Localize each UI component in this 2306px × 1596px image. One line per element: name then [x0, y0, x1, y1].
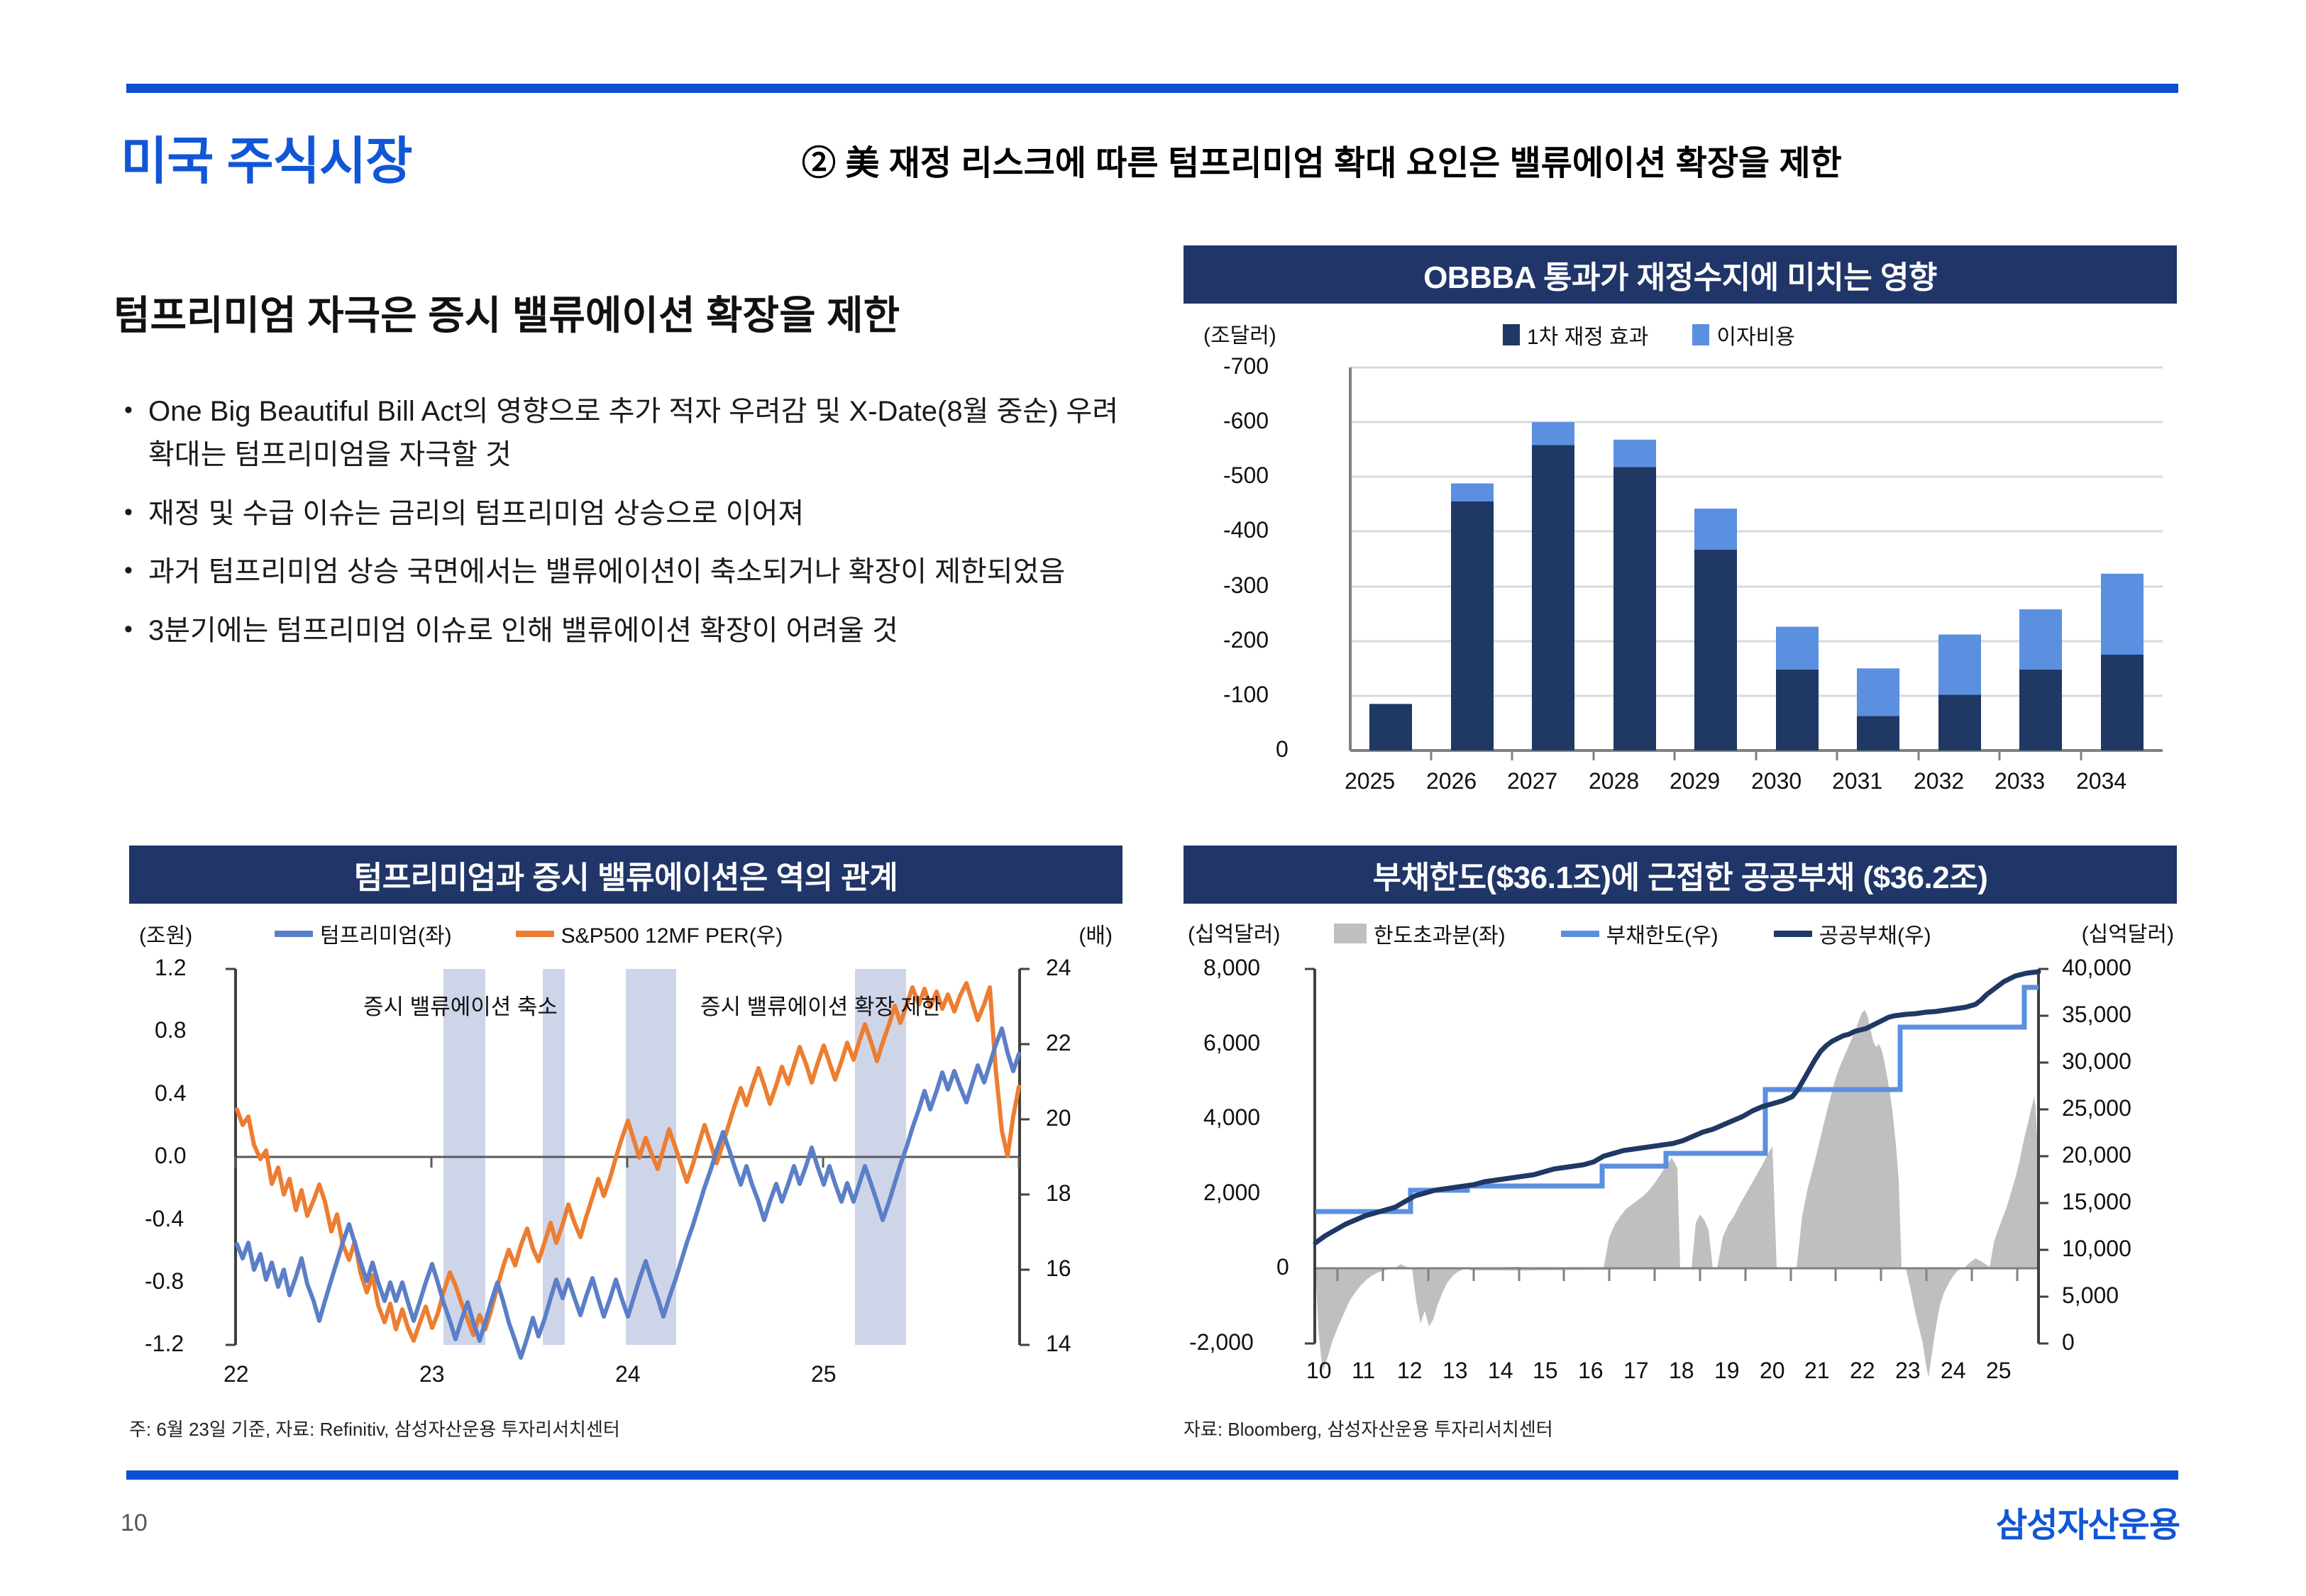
x-tick-label: 20: [1760, 1358, 1785, 1384]
legend-label: 부채한도(우): [1606, 918, 1719, 949]
x-tick-label: 18: [1669, 1358, 1694, 1384]
source-note-left: 주: 6월 23일 기준, 자료: Refinitiv, 삼성자산운용 투자리서…: [129, 1415, 620, 1441]
x-tick-label: 13: [1442, 1358, 1468, 1384]
bullet-list: • One Big Beautiful Bill Act의 영향으로 추가 적자…: [124, 390, 1132, 668]
y-axis-right-unit: (십억달러): [2082, 916, 2174, 948]
y-tick-label-right: 35,000: [2062, 1002, 2131, 1028]
chart-term-premium-per: (조원) (배) 텀프리미엄(좌) S&P500 12MF PER(우): [129, 904, 1122, 1406]
page-subtitle: ② 美 재정 리스크에 따른 텀프리미엄 확대 요인은 밸류에이션 확장을 제한: [802, 135, 1842, 184]
x-tick-label: 23: [419, 1361, 445, 1387]
x-tick-label: 22: [1850, 1358, 1875, 1384]
y-tick-label-right: 0: [2062, 1329, 2075, 1356]
x-tick-label: 24: [615, 1361, 641, 1387]
panel-debt-ceiling: 부채한도($36.1조)에 근접한 공공부채 ($36.2조) (십억달러) (…: [1184, 846, 2177, 1406]
bullet-icon: •: [124, 492, 148, 536]
obbba-bar-svg: [1184, 304, 2177, 806]
y-tick-label: -600: [1223, 408, 1269, 434]
y-tick-label-right: 18: [1046, 1180, 1071, 1207]
y-tick-label-left: 0.8: [155, 1017, 186, 1043]
x-tick-label: 19: [1714, 1358, 1740, 1384]
x-tick-label: 16: [1578, 1358, 1604, 1384]
legend-label: 텀프리미엄(좌): [320, 918, 452, 949]
bullet-icon: •: [124, 550, 148, 594]
y-tick-label-left: 2,000: [1203, 1180, 1260, 1206]
x-tick-label: 2028: [1589, 768, 1639, 794]
y-tick-label-right: 14: [1046, 1331, 1071, 1357]
y-tick-label-left: 0.4: [155, 1080, 186, 1107]
x-tick-label: 2027: [1507, 768, 1557, 794]
y-tick-label-right: 10,000: [2062, 1236, 2131, 1262]
y-tick-label-right: 16: [1046, 1256, 1071, 1282]
chart-obbba-deficit: (조달러) 1차 재정 효과 이자비용: [1184, 304, 2177, 806]
bullet-icon: •: [124, 390, 148, 477]
legend-label: 한도초과분(좌): [1374, 918, 1506, 949]
x-tick-label: 24: [1941, 1358, 1966, 1384]
lead-heading: 텀프리미엄 자극은 증시 밸류에이션 확장을 제한: [114, 284, 900, 341]
panel-title: OBBBA 통과가 재정수지에 미치는 영향: [1184, 245, 2177, 304]
annotation-label: 증시 밸류에이션 확장 제한: [700, 989, 942, 1021]
x-tick-label: 10: [1306, 1358, 1332, 1384]
y-tick-label: -500: [1223, 462, 1269, 489]
x-tick-label: 25: [811, 1361, 837, 1387]
x-tick-label: 15: [1533, 1358, 1558, 1384]
y-tick-label: -200: [1223, 627, 1269, 653]
x-tick-label: 23: [1895, 1358, 1921, 1384]
legend-item-interest: 이자비용: [1692, 319, 1794, 350]
y-tick-label-left: 6,000: [1203, 1030, 1260, 1056]
y-tick-label-left: 4,000: [1203, 1104, 1260, 1131]
x-tick-label: 12: [1397, 1358, 1423, 1384]
x-tick-label: 11: [1352, 1358, 1375, 1384]
y-tick-label-right: 20: [1046, 1105, 1071, 1131]
x-tick-label: 2031: [1832, 768, 1882, 794]
y-tick-label-right: 25,000: [2062, 1095, 2131, 1121]
panel-title: 텀프리미엄과 증시 밸류에이션은 역의 관계: [129, 846, 1122, 904]
list-item: • One Big Beautiful Bill Act의 영향으로 추가 적자…: [124, 390, 1132, 477]
x-tick-label: 2034: [2076, 768, 2126, 794]
legend-label: S&P500 12MF PER(우): [561, 918, 783, 949]
y-tick-label: -700: [1223, 353, 1269, 379]
legend-line-icon: [275, 931, 313, 937]
legend-item-ceiling: 부채한도(우): [1561, 918, 1719, 949]
x-tick-label: 2032: [1914, 768, 1964, 794]
x-tick-label: 21: [1804, 1358, 1830, 1384]
x-tick-label: 25: [1986, 1358, 2012, 1384]
bullet-text: 재정 및 수급 이슈는 금리의 텀프리미엄 상승으로 이어져: [148, 492, 1132, 536]
legend-item-sp500-per: S&P500 12MF PER(우): [516, 918, 783, 949]
legend-label: 공공부채(우): [1819, 918, 1931, 949]
y-tick-label-right: 20,000: [2062, 1142, 2131, 1168]
y-tick-label-right: 22: [1046, 1030, 1071, 1056]
x-tick-label: 2025: [1345, 768, 1395, 794]
legend-swatch-icon: [1503, 324, 1520, 345]
x-tick-label: 22: [224, 1361, 249, 1387]
annotation-label: 증시 밸류에이션 축소: [363, 989, 558, 1021]
x-tick-label: 2029: [1670, 768, 1720, 794]
chart-legend: 1차 재정 효과 이자비용: [1503, 319, 1795, 350]
chart-legend: 텀프리미엄(좌) S&P500 12MF PER(우): [275, 918, 783, 949]
y-tick-label-left: 1.2: [155, 955, 186, 981]
list-item: • 과거 텀프리미엄 상승 국면에서는 밸류에이션이 축소되거나 확장이 제한되…: [124, 550, 1132, 594]
legend-line-icon: [516, 931, 554, 937]
y-tick-label-right: 5,000: [2062, 1282, 2119, 1309]
bullet-text: 3분기에는 텀프리미엄 이슈로 인해 밸류에이션 확장이 어려울 것: [148, 609, 1132, 653]
legend-label: 이자비용: [1716, 319, 1794, 350]
legend-line-icon: [1774, 931, 1812, 937]
x-tick-label: 2033: [1995, 768, 2045, 794]
x-tick-label: 17: [1623, 1358, 1649, 1384]
bullet-text: 과거 텀프리미엄 상승 국면에서는 밸류에이션이 축소되거나 확장이 제한되었음: [148, 550, 1132, 594]
source-note-right: 자료: Bloomberg, 삼성자산운용 투자리서치센터: [1184, 1415, 1553, 1441]
x-tick-label: 14: [1488, 1358, 1513, 1384]
y-tick-label-right: 24: [1046, 955, 1071, 981]
panel-title: 부채한도($36.1조)에 근접한 공공부채 ($36.2조): [1184, 846, 2177, 904]
bullet-text: One Big Beautiful Bill Act의 영향으로 추가 적자 우…: [148, 390, 1132, 477]
y-axis-right-unit: (배): [1078, 918, 1113, 949]
term-premium-svg: [129, 904, 1122, 1406]
chart-legend: 한도초과분(좌) 부채한도(우) 공공부채(우): [1334, 918, 1931, 949]
y-tick-label: -100: [1223, 682, 1269, 708]
x-tick-label: 2030: [1751, 768, 1802, 794]
y-tick-label: -400: [1223, 517, 1269, 543]
chart-debt-ceiling: (십억달러) (십억달러) 한도초과분(좌) 부채한도(우) 공공부채(우): [1184, 904, 2177, 1406]
y-tick-label-left: -0.4: [145, 1206, 184, 1232]
y-tick-label: 0: [1276, 736, 1289, 763]
y-tick-label: -300: [1223, 572, 1269, 599]
y-tick-label-left: -2,000: [1189, 1329, 1254, 1356]
panel-obbba-deficit: OBBBA 통과가 재정수지에 미치는 영향 (조달러) 1차 재정 효과 이자…: [1184, 245, 2177, 806]
legend-item-primary: 1차 재정 효과: [1503, 319, 1648, 350]
legend-item-public-debt: 공공부채(우): [1774, 918, 1931, 949]
panel-term-premium-per: 텀프리미엄과 증시 밸류에이션은 역의 관계 (조원) (배) 텀프리미엄(좌)…: [129, 846, 1122, 1406]
debt-ceiling-svg: [1184, 904, 2177, 1406]
list-item: • 재정 및 수급 이슈는 금리의 텀프리미엄 상승으로 이어져: [124, 492, 1132, 536]
y-tick-label-left: -1.2: [145, 1331, 184, 1357]
page-number: 10: [121, 1509, 148, 1537]
legend-item-excess: 한도초과분(좌): [1334, 918, 1506, 949]
legend-label: 1차 재정 효과: [1527, 319, 1648, 350]
y-tick-label-left: 8,000: [1203, 955, 1260, 981]
y-axis-left-unit: (조원): [139, 918, 192, 949]
y-axis-left-unit: (십억달러): [1188, 916, 1280, 948]
brand-logo: 삼성자산운용: [1996, 1497, 2180, 1546]
legend-swatch-icon: [1334, 924, 1367, 943]
y-tick-label-left: 0.0: [155, 1143, 186, 1169]
y-tick-label-right: 30,000: [2062, 1048, 2131, 1075]
legend-item-term-premium: 텀프리미엄(좌): [275, 918, 452, 949]
x-tick-label: 2026: [1426, 768, 1477, 794]
y-tick-label-left: -0.8: [145, 1268, 184, 1295]
y-axis-unit: (조달러): [1203, 318, 1276, 349]
list-item: • 3분기에는 텀프리미엄 이슈로 인해 밸류에이션 확장이 어려울 것: [124, 609, 1132, 653]
top-accent-bar: [126, 84, 2178, 93]
y-tick-label-right: 15,000: [2062, 1189, 2131, 1215]
legend-line-icon: [1561, 931, 1599, 937]
bottom-accent-bar: [126, 1470, 2178, 1480]
y-tick-label-left: 0: [1276, 1254, 1289, 1280]
legend-swatch-icon: [1692, 324, 1709, 345]
page-title: 미국 주식시장: [121, 119, 412, 194]
y-tick-label-right: 40,000: [2062, 955, 2131, 981]
bullet-icon: •: [124, 609, 148, 653]
